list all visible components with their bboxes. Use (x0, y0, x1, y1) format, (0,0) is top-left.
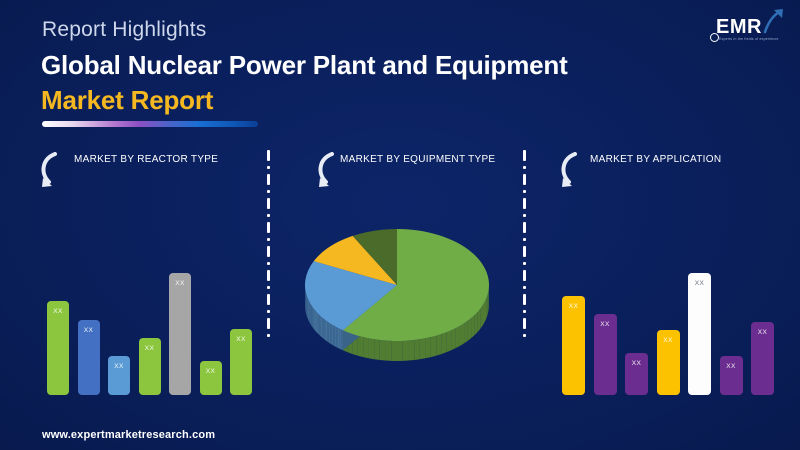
panel-header-application: MARKET BY APPLICATION (526, 145, 800, 190)
pie-slice-side-1 (425, 337, 430, 358)
bar-chart-application: XXXXXXXXXXXXXX (526, 200, 800, 395)
page-title-line2: Market Report (41, 85, 213, 116)
bar-3: XX (108, 356, 130, 395)
bar-1: XX (562, 296, 585, 395)
emr-logo[interactable]: EMR Experts in the fields of experience (710, 8, 786, 50)
pie-slice-side-1 (460, 323, 464, 345)
pie-slice-side-1 (363, 337, 368, 358)
bar-value-label: XX (632, 360, 641, 395)
pie-slice-side-1 (488, 289, 489, 313)
pie-slice-side-2 (332, 324, 334, 345)
bar-value-label: XX (726, 363, 735, 395)
pie-slice-side-1 (403, 341, 409, 361)
bar-7: XX (751, 322, 774, 395)
panel-title-equipment-type: MARKET BY EQUIPMENT TYPE (340, 154, 495, 165)
bar-3: XX (625, 353, 648, 395)
bar-2: XX (594, 314, 617, 395)
bar-value-label: XX (84, 327, 93, 395)
pie-slice-side-2 (311, 305, 312, 326)
pie-slice-side-2 (326, 321, 327, 342)
panel-header-equipment-type: MARKET BY EQUIPMENT TYPE (270, 145, 523, 190)
pie-slice-side-1 (483, 302, 485, 325)
pie-slice-side-1 (451, 328, 456, 350)
bar-value-label: XX (206, 368, 215, 395)
pie-slice-side-2 (325, 320, 326, 341)
panel-title-application: MARKET BY APPLICATION (590, 154, 721, 165)
pie-slice-side-1 (456, 326, 460, 348)
bar-value-label: XX (53, 308, 62, 395)
curved-down-arrow-icon (556, 151, 588, 191)
bar-6: XX (720, 356, 743, 395)
pie-slice-side-1 (358, 336, 363, 357)
bar-5: XX (169, 273, 191, 395)
pie-slice-side-1 (441, 332, 446, 354)
pie-slice-side-1 (468, 318, 472, 341)
pie-slice-side-2 (327, 322, 328, 343)
bar-1: XX (47, 301, 69, 395)
pie-slice-side-2 (316, 312, 317, 333)
footer-website[interactable]: www.expertmarketresearch.com (42, 429, 215, 441)
bar-7: XX (230, 329, 252, 395)
pie-slice-side-2 (318, 313, 319, 334)
pie-slice-side-2 (329, 323, 330, 344)
pie-slice-side-1 (420, 338, 426, 359)
pie-slice-side-2 (323, 319, 324, 340)
bar-5: XX (688, 273, 711, 395)
pie-slice-side-2 (340, 329, 342, 350)
pie-slice-side-2 (314, 309, 315, 330)
panel-reactor-type: MARKET BY REACTOR TYPE XXXXXXXXXXXXXX (0, 145, 267, 395)
pie-slice-side-1 (478, 309, 481, 332)
curved-down-arrow-icon (36, 151, 68, 191)
pie-slice-side-1 (380, 340, 386, 361)
pie-slice-side-1 (414, 339, 420, 360)
pie-slice-side-2 (310, 304, 311, 325)
page-title-line1: Global Nuclear Power Plant and Equipment (41, 50, 568, 81)
pie-slice-side-2 (307, 298, 308, 319)
bar-value-label: XX (663, 337, 672, 395)
panel-title-reactor-type: MARKET BY REACTOR TYPE (74, 154, 218, 165)
bar-2: XX (78, 320, 100, 395)
bar-value-label: XX (236, 336, 245, 395)
pie-slice-side-2 (320, 315, 321, 336)
pie-slice-side-2 (312, 306, 313, 327)
infographic-canvas: Report Highlights Global Nuclear Power P… (0, 0, 800, 450)
bar-4: XX (657, 330, 680, 395)
pie-slice-side-2 (315, 311, 316, 332)
pie-slice-side-1 (369, 338, 375, 359)
pie-slice-side-2 (308, 299, 309, 320)
bar-value-label: XX (758, 329, 767, 395)
pie-slice-side-1 (436, 334, 441, 356)
pie-slice-side-2 (330, 324, 331, 345)
bar-value-label: XX (600, 321, 609, 395)
bar-value-label: XX (695, 280, 704, 395)
pie-slice-side-1 (475, 312, 478, 335)
pie-slice-side-1 (431, 336, 436, 357)
pie-slice-side-1 (409, 340, 415, 361)
title-gradient-rule (42, 121, 258, 127)
pie-slice-side-2 (309, 301, 310, 322)
pie-slice-side-2 (313, 307, 314, 328)
bar-value-label: XX (114, 363, 123, 395)
panel-equipment-type: MARKET BY EQUIPMENT TYPE (270, 145, 523, 395)
pie-slice-side-2 (338, 328, 340, 349)
panel-application: MARKET BY APPLICATION XXXXXXXXXXXXXX (526, 145, 800, 395)
pie-slice-side-1 (484, 299, 486, 322)
pie-slice-side-1 (464, 321, 468, 344)
pie-chart-equipment-type (278, 207, 516, 387)
bar-6: XX (200, 361, 222, 395)
bar-value-label: XX (569, 303, 578, 395)
pie-slice-side-1 (385, 341, 391, 361)
pie-slice-side-2 (319, 314, 320, 335)
pie-slice-side-2 (321, 316, 322, 337)
pie-slice-side-1 (391, 341, 397, 361)
pie-slice-side-1 (446, 330, 451, 352)
bar-value-label: XX (145, 345, 154, 395)
pie-slice-side-2 (341, 330, 343, 351)
pie-slice-side-2 (333, 325, 335, 346)
pie-slice-side-2 (310, 303, 311, 324)
pie-slice-side-2 (336, 327, 338, 348)
pie-slice-side-2 (315, 310, 316, 331)
bar-4: XX (139, 338, 161, 395)
pie-slice-side-1 (471, 315, 474, 338)
pie-slice-side-2 (335, 326, 337, 347)
pie-slice-side-1 (480, 306, 482, 329)
pie-slice-side-1 (486, 295, 487, 318)
pie-slice-side-2 (308, 300, 309, 321)
pie-slice-side-1 (487, 292, 488, 315)
pie-slice-side-1 (374, 339, 380, 360)
logo-wordmark: EMR (716, 16, 762, 39)
panel-header-reactor-type: MARKET BY REACTOR TYPE (0, 145, 267, 190)
logo-tagline: Experts in the fields of experience (719, 37, 779, 41)
bar-chart-reactor-type: XXXXXXXXXXXXXX (0, 200, 267, 395)
bar-value-label: XX (175, 280, 184, 395)
pie-slice-side-1 (397, 341, 403, 361)
report-kicker: Report Highlights (42, 18, 206, 42)
up-right-arrow-icon (760, 8, 786, 34)
pie-slice-side-2 (322, 318, 323, 339)
